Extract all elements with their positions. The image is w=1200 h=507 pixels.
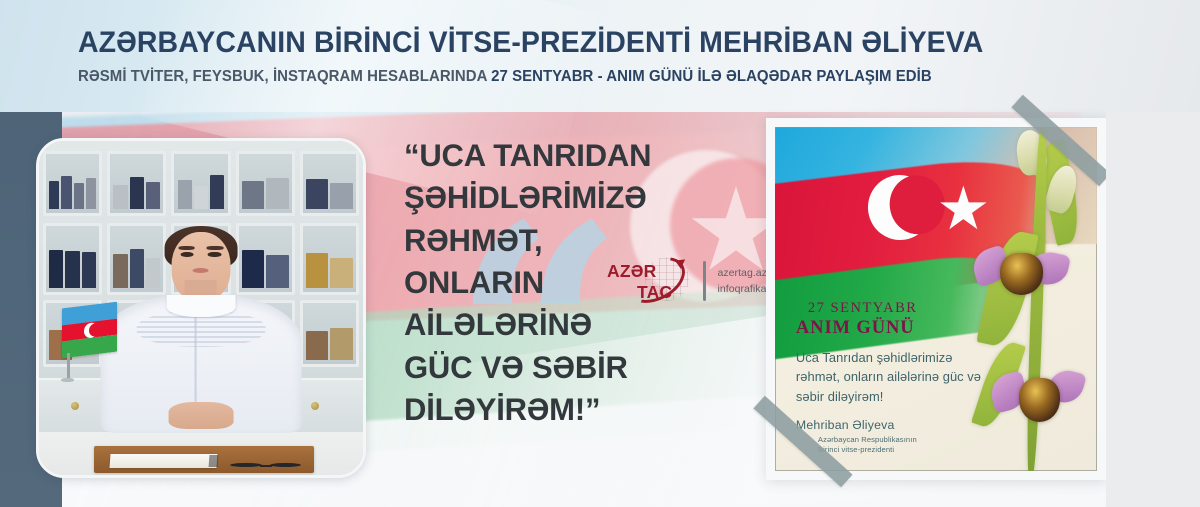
logo-divider [703,261,706,301]
book-group [242,172,289,209]
cabinet [300,151,359,216]
cabinet-knob [311,402,319,410]
cabinet [300,300,359,367]
right-margin [1106,112,1200,507]
book-group [306,172,353,209]
azertac-word-top: AZƏR [607,261,656,282]
office-scene [39,141,363,475]
card-signature-role: Azərbaycan Respublikasının Birinci vitse… [818,435,996,456]
open-book [110,454,218,468]
card-signature-role-line1: Azərbaycan Respublikasının [818,435,996,445]
lips [193,268,209,273]
bee-orchid-flower [971,244,1068,302]
book-group [49,172,96,209]
infographic-canvas: “ AZƏRBAYCANIN BİRİNCİ VİTSE-PREZİDENTİ … [0,0,1200,507]
quote-line: DİLƏYİRƏM!” [404,388,640,430]
eyeglasses [230,463,301,467]
page-subtitle-prefix: RƏSMİ TVİTER, FEYSBUK, İNSTAQRAM HESABLA… [78,68,491,85]
card-quote: Uca Tanrıdan şəhidlərimizə rəhmət, onlar… [796,348,996,407]
header-band: AZƏRBAYCANIN BİRİNCİ VİTSE-PREZİDENTİ ME… [0,0,1200,112]
azertac-section: infoqrafika [717,283,767,295]
card-date: 27 SENTYABR [808,300,996,317]
book-group [113,172,160,209]
blouse-collar [167,295,235,317]
folded-hands [169,402,233,429]
quote-line: GÜC VƏ SƏBİR [404,346,640,388]
cabinet [43,223,102,295]
book-group [306,322,353,360]
card-signature-name: Mehriban Əliyeva [796,418,996,432]
azertac-word-bottom: TAC [637,282,672,303]
card-text-block: 27 SENTYABR ANIM GÜNÜ Uca Tanrıdan şəhid… [796,300,996,456]
orchid-lip [1019,378,1060,423]
eyebrow-right [207,246,223,249]
card-signature-role-line2: Birinci vitse-prezidenti [818,445,996,455]
cabinet [107,151,166,216]
azertac-logo[interactable]: AZƏR TAC azertag.az infoqrafika [607,252,767,310]
card-artwork: 27 SENTYABR ANIM GÜNÜ Uca Tanrıdan şəhid… [775,127,1097,471]
quote-line: “UCA TANRIDAN [404,134,640,176]
shelf-row-top [39,151,363,216]
page-subtitle-highlight: 27 SENTYABR - ANIM GÜNÜ İLƏ ƏLAQƏDAR PAY… [491,68,932,85]
azertac-site: azertag.az [717,267,767,279]
quote-line: ŞƏHİDLƏRİMİZƏ [404,176,640,218]
cabinet-knob [71,402,79,410]
azerbaijan-table-flag [62,305,117,355]
card-title: ANIM GÜNÜ [796,318,996,339]
flag-crescent [84,322,98,339]
header-content: AZƏRBAYCANIN BİRİNCİ VİTSE-PREZİDENTİ ME… [78,0,1164,112]
flag-cloth [62,301,117,358]
quote-line: AİLƏLƏRİNƏ [404,303,640,345]
lens-right [270,463,301,467]
quote-line: RƏHMƏT, [404,219,640,261]
azertac-emblem-icon: AZƏR TAC [607,255,692,307]
desk [39,432,363,475]
azertac-meta: azertag.az infoqrafika [717,267,767,295]
cabinet [300,223,359,295]
card-frame: 27 SENTYABR ANIM GÜNÜ Uca Tanrıdan şəhid… [766,118,1106,480]
portrait-photo [36,138,366,478]
orchid-lip [1000,253,1043,295]
flag-pole [67,353,70,379]
person-figure [101,226,302,433]
social-post-card[interactable]: 27 SENTYABR ANIM GÜNÜ Uca Tanrıdan şəhid… [766,118,1106,480]
book-group [306,247,353,288]
cabinet [43,151,102,216]
bee-orchid-flower [991,368,1084,430]
page-subtitle: RƏSMİ TVİTER, FEYSBUK, İNSTAQRAM HESABLA… [78,69,1121,85]
lens-left [230,463,261,467]
book-group [49,247,96,288]
page-title: AZƏRBAYCANIN BİRİNCİ VİTSE-PREZİDENTİ ME… [78,28,1126,58]
eyebrow-left [179,246,195,249]
cabinet [171,151,230,216]
eye-right [208,252,221,257]
flag-base [61,378,74,382]
book-group [178,172,225,209]
quote-line: ONLARIN [404,261,640,303]
cabinet [236,151,295,216]
